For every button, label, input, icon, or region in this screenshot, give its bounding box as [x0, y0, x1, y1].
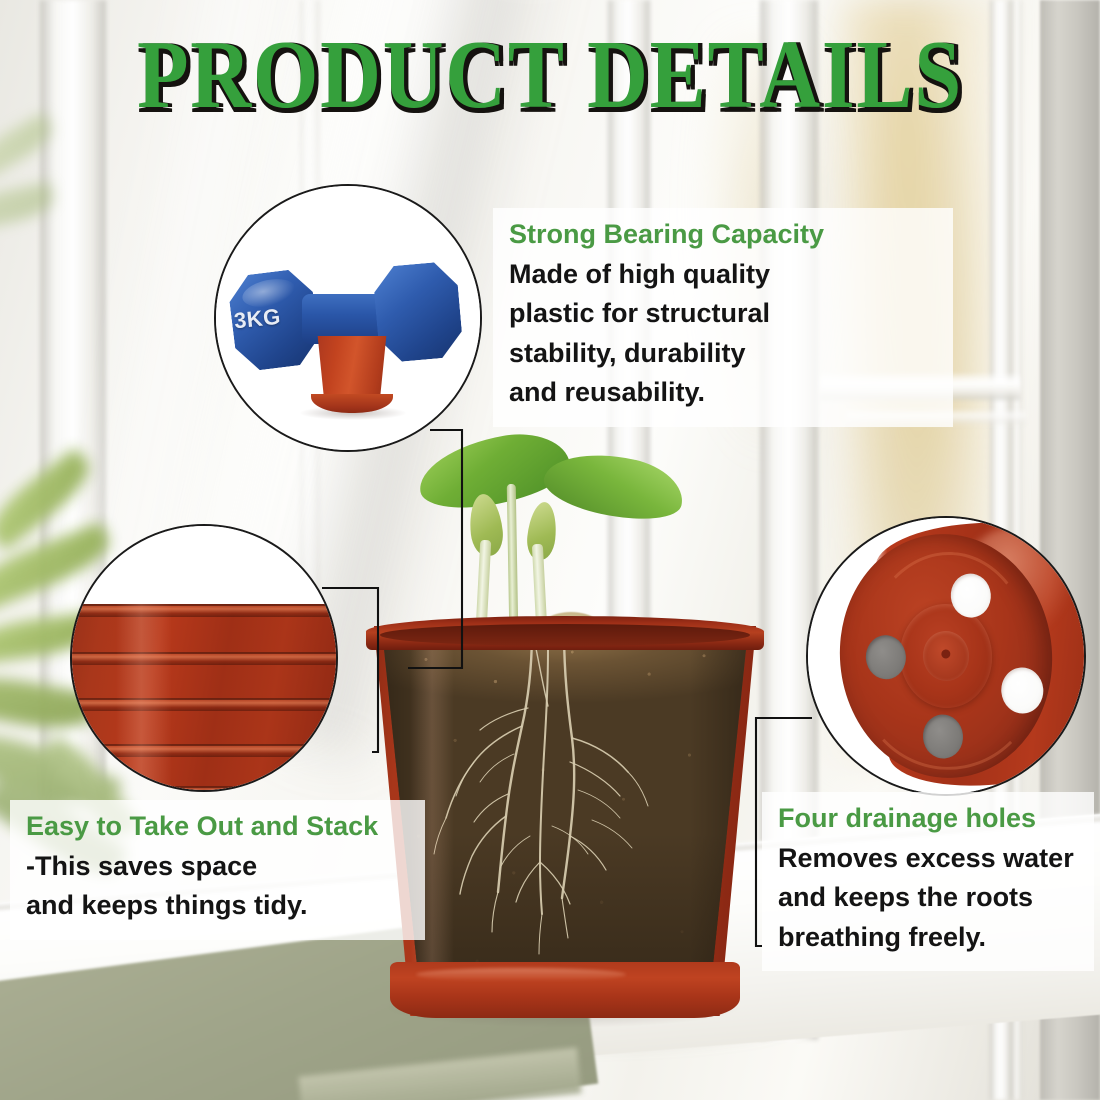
callout-circle-bearing-capacity: 3KG [214, 184, 482, 452]
pot-bottom-photo [808, 518, 1084, 794]
panel-heading-bearing: Strong Bearing Capacity [509, 218, 937, 251]
stacked-pots-highlight [116, 604, 172, 792]
panel-heading-stack: Easy to Take Out and Stack [26, 810, 409, 843]
text-panel-stackable: Easy to Take Out and Stack -This saves s… [10, 800, 425, 940]
dumbbell-on-pot-photo: 3KG [216, 186, 480, 450]
text-panel-bearing-capacity: Strong Bearing Capacity Made of high qua… [493, 208, 953, 427]
stacked-pots-photo [72, 526, 336, 790]
product-details-infographic: PRODUCT DETAILS 3KG [0, 0, 1100, 1100]
panel-body-stack: -This saves space and keeps things tidy. [26, 847, 409, 926]
panel-body-bearing: Made of high quality plastic for structu… [509, 255, 937, 413]
panel-body-drain: Removes excess water and keeps the roots… [778, 839, 1078, 957]
pot-stack-ridge [70, 698, 338, 711]
text-panel-drainage: Four drainage holes Removes excess water… [762, 792, 1094, 971]
panel-heading-drain: Four drainage holes [778, 802, 1078, 835]
pot-stack-ridge [70, 652, 338, 665]
callout-circle-stackable [70, 524, 338, 792]
pot-stack-ridge [70, 604, 338, 617]
dumbbell-head-right [372, 261, 464, 364]
callout-circle-drainage-holes [806, 516, 1086, 796]
dumbbell-weight-label: 3KG [233, 304, 282, 335]
leader-path-bearing [408, 430, 462, 668]
pot-stack-ridge [70, 744, 338, 757]
page-title: PRODUCT DETAILS [77, 26, 1023, 124]
stacked-pots-body [70, 604, 338, 792]
